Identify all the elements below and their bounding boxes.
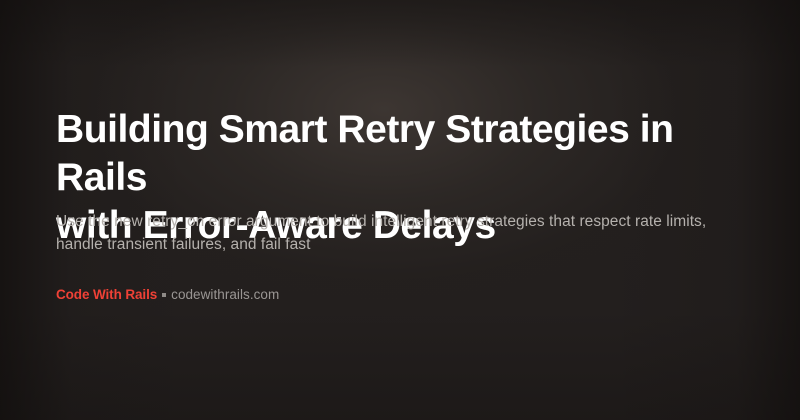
card-content: Building Smart Retry Strategies in Rails… bbox=[56, 0, 744, 420]
page-subtitle: Use the new retry_on error argument to b… bbox=[56, 210, 728, 256]
og-social-card: Building Smart Retry Strategies in Rails… bbox=[0, 0, 800, 420]
brand-footer: Code With Rails codewithrails.com bbox=[56, 286, 279, 304]
brand-name: Code With Rails bbox=[56, 286, 157, 304]
brand-domain: codewithrails.com bbox=[171, 286, 279, 304]
square-bullet-icon bbox=[162, 293, 166, 297]
